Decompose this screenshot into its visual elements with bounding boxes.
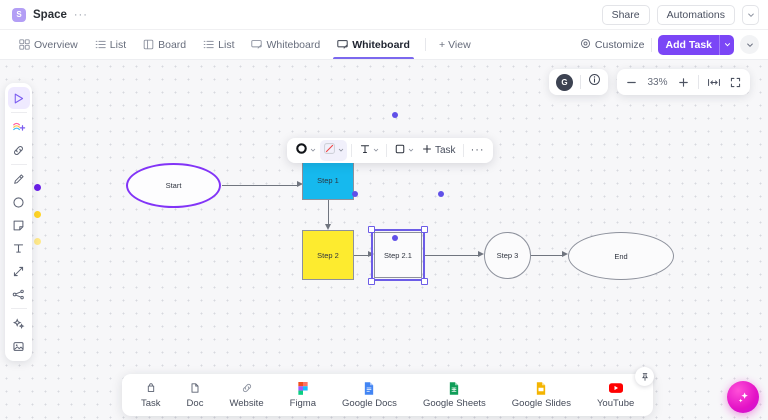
customize-button[interactable]: Customize (580, 38, 645, 52)
automations-button[interactable]: Automations (657, 5, 735, 25)
presence-bar: G (549, 69, 608, 95)
color-swatch-purple[interactable] (34, 184, 41, 191)
select-tool[interactable] (8, 87, 30, 109)
fill-color-button[interactable] (292, 140, 319, 161)
chevron-down-icon (408, 147, 414, 155)
plus-icon (421, 142, 433, 160)
tab-whiteboard-2[interactable]: Whiteboard (329, 30, 418, 59)
shape-label: Step 1 (317, 176, 339, 185)
link-icon (241, 382, 253, 395)
shape-format-toolbar: Task ··· (287, 138, 493, 163)
border-style-button[interactable] (391, 140, 417, 161)
more-options-button[interactable]: ··· (468, 140, 488, 161)
chevron-down-icon (338, 147, 344, 155)
list-icon (203, 39, 214, 50)
more-options-chevron-icon[interactable] (740, 35, 759, 54)
connection-anchor-step2-right[interactable] (352, 191, 358, 197)
info-icon[interactable] (588, 73, 601, 91)
shape-step-2[interactable]: Step 2 (302, 230, 354, 280)
divider (698, 75, 699, 89)
tab-label: List (110, 39, 126, 51)
shape-label: End (614, 252, 627, 261)
dock-label: Figma (290, 398, 316, 409)
tab-whiteboard-1[interactable]: Whiteboard (243, 30, 328, 59)
dock-item-doc[interactable]: Doc (174, 382, 217, 409)
resize-handle-top-right[interactable] (421, 226, 428, 233)
color-swatch-yellow[interactable] (34, 211, 41, 218)
google-docs-icon (364, 382, 374, 395)
dock-label: Google Docs (342, 398, 397, 409)
tab-label: Whiteboard (352, 39, 410, 51)
whiteboard-app: S Space ··· Share Automations Overview (0, 0, 768, 420)
fullscreen-icon[interactable] (729, 76, 742, 89)
connection-anchor-top[interactable] (392, 112, 398, 118)
chevron-down-icon (373, 147, 379, 155)
stroke-style-button[interactable] (320, 140, 347, 161)
ellipse-tool[interactable] (8, 191, 30, 213)
topbar-chevron-down-icon[interactable] (742, 5, 759, 25)
divider (11, 308, 27, 309)
shapes-library-tool[interactable] (8, 116, 30, 138)
shape-start[interactable]: Start (126, 163, 221, 208)
customize-label: Customize (595, 39, 645, 51)
resize-handle-bottom-right[interactable] (421, 278, 428, 285)
divider (351, 144, 352, 157)
grid-icon (19, 39, 30, 50)
square-icon (394, 142, 406, 160)
shape-step-3[interactable]: Step 3 (484, 232, 531, 279)
dock-label: Google Sheets (423, 398, 486, 409)
left-tool-palette (5, 83, 32, 361)
dock-label: Google Slides (512, 398, 571, 409)
share-button[interactable]: Share (602, 5, 650, 25)
top-bar-actions: Share Automations (602, 5, 759, 25)
shape-label: Step 2.1 (384, 251, 412, 260)
connection-anchor-right[interactable] (438, 191, 444, 197)
divider (11, 112, 27, 113)
chevron-down-icon (310, 147, 316, 155)
dock-item-figma[interactable]: Figma (277, 382, 329, 409)
tab-divider (425, 38, 426, 51)
tab-list-2[interactable]: List (195, 30, 242, 59)
zoom-level-label[interactable]: 33% (646, 77, 669, 88)
space-name[interactable]: Space (33, 9, 67, 21)
dock-item-google-docs[interactable]: Google Docs (329, 382, 410, 409)
board-icon (143, 39, 154, 50)
add-task-button[interactable]: Add Task (658, 35, 734, 55)
dock-item-website[interactable]: Website (216, 382, 276, 409)
connector-tool[interactable] (8, 260, 30, 282)
tab-board[interactable]: Board (135, 30, 194, 59)
tab-label: List (218, 39, 234, 51)
zoom-out-button[interactable] (625, 76, 638, 89)
link-tool[interactable] (8, 139, 30, 161)
google-slides-icon (536, 382, 546, 395)
google-sheets-icon (449, 382, 459, 395)
add-task-label: Add Task (658, 39, 719, 51)
divider (580, 75, 581, 89)
tab-label: Whiteboard (266, 39, 320, 51)
pin-icon[interactable] (635, 367, 654, 386)
mindmap-tool[interactable] (8, 283, 30, 305)
connection-anchor-bottom[interactable] (392, 235, 398, 241)
shape-step-1[interactable]: Step 1 (302, 160, 354, 200)
dock-label: Doc (187, 398, 204, 409)
color-swatch-light-yellow[interactable] (34, 238, 41, 245)
tab-list-1[interactable]: List (87, 30, 134, 59)
diagonal-line-icon (323, 142, 336, 160)
add-task-chevron-down-icon[interactable] (719, 35, 734, 55)
figma-icon (298, 382, 308, 395)
edge-step1-step2 (328, 200, 329, 226)
sticky-note-tool[interactable] (8, 214, 30, 236)
resize-handle-bottom-left[interactable] (368, 278, 375, 285)
dock-item-google-sheets[interactable]: Google Sheets (410, 382, 499, 409)
insert-dock: Task Doc Website (122, 374, 653, 416)
text-tool[interactable] (8, 237, 30, 259)
view-tabs: Overview List Board List (11, 30, 477, 59)
whiteboard-icon (251, 39, 262, 50)
space-badge: S (12, 8, 26, 22)
pen-tool[interactable] (8, 168, 30, 190)
edge-start-step1 (222, 185, 298, 186)
zoom-controls: 33% (617, 69, 750, 95)
tab-bar-actions: Customize Add Task (580, 35, 759, 55)
whiteboard-icon (337, 39, 348, 50)
image-tool[interactable] (8, 335, 30, 357)
divider (463, 144, 464, 157)
space-more-icon[interactable]: ··· (74, 11, 88, 19)
view-tab-bar: Overview List Board List (0, 30, 768, 60)
shape-end[interactable]: End (568, 232, 674, 280)
divider (11, 164, 27, 165)
whiteboard-canvas[interactable]: Start Step 1 Step 2 Step 2.1 Step 3 End (0, 60, 768, 420)
text-icon (359, 142, 371, 160)
ai-sparkle-fab[interactable] (727, 381, 759, 413)
tab-label: Board (158, 39, 186, 51)
shape-label: Step 3 (497, 251, 519, 260)
shape-label: Start (166, 181, 182, 190)
tab-overview[interactable]: Overview (11, 30, 86, 59)
convert-to-task-button[interactable]: Task (418, 140, 459, 161)
dock-label: Task (141, 398, 161, 409)
edge-step3-end (531, 255, 564, 256)
add-view-button[interactable]: + View (433, 39, 477, 51)
avatar[interactable]: G (556, 74, 573, 91)
doc-icon (189, 382, 201, 395)
add-view-label: View (448, 39, 471, 51)
dock-label: Website (229, 398, 263, 409)
list-icon (95, 39, 106, 50)
divider (386, 144, 387, 157)
fill-circle-icon (295, 142, 308, 160)
shape-step-2-1[interactable]: Step 2.1 (374, 232, 422, 278)
tab-label: Overview (34, 39, 78, 51)
top-bar: S Space ··· Share Automations (0, 0, 768, 30)
task-icon (145, 382, 157, 395)
shape-label: Step 2 (317, 251, 339, 260)
divider (651, 38, 652, 52)
edge-step21-step3 (424, 255, 480, 256)
ai-sparkle-tool[interactable] (8, 312, 30, 334)
ellipsis-icon: ··· (471, 147, 485, 154)
task-label: Task (435, 145, 456, 156)
text-format-button[interactable] (356, 140, 382, 161)
fit-width-icon[interactable] (707, 76, 721, 89)
dock-item-google-slides[interactable]: Google Slides (499, 382, 584, 409)
zoom-in-button[interactable] (677, 76, 690, 89)
dock-item-youtube[interactable]: YouTube (584, 382, 647, 409)
dock-item-task[interactable]: Task (128, 382, 174, 409)
resize-handle-top-left[interactable] (368, 226, 375, 233)
dock-label: YouTube (597, 398, 634, 409)
plus-icon: + (439, 39, 445, 51)
gear-icon (580, 38, 591, 52)
youtube-icon (609, 382, 623, 395)
